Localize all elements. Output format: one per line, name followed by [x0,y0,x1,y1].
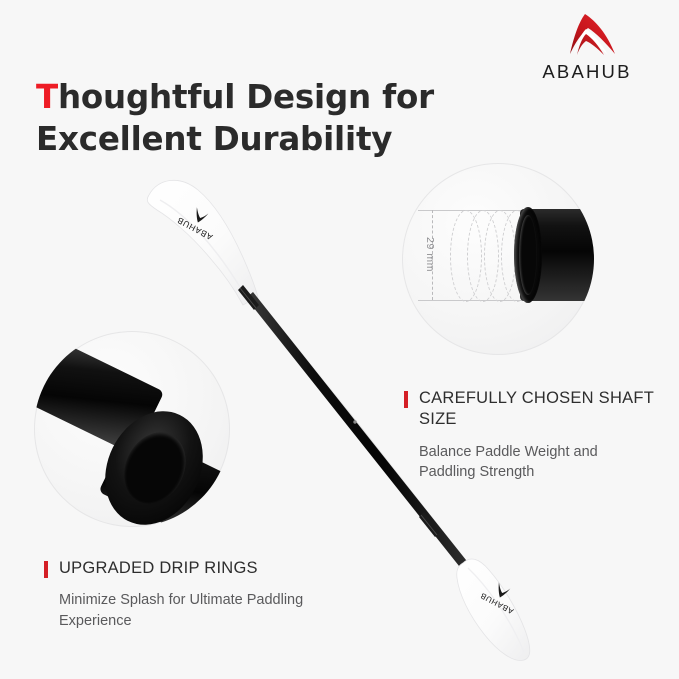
callout-upgraded-drip-rings: UPGRADED DRIP RINGS Minimize Splash for … [44,558,334,632]
callout-heading-row: CAREFULLY CHOSEN SHAFT SIZE [404,388,656,431]
blade-logo-top: ABAHUB [175,202,221,242]
callout-subtitle: Minimize Splash for Ultimate Paddling Ex… [59,590,334,631]
callout-carefully-chosen-shaft-size: CAREFULLY CHOSEN SHAFT SIZE Balance Padd… [404,388,656,483]
paddle-blade-top: ABAHUB [147,180,258,305]
callout-title: CAREFULLY CHOSEN SHAFT SIZE [419,388,656,431]
page-title: Thoughtful Design forExcellent Durabilit… [36,76,506,161]
shaft-diameter-inset: 29 mm [402,163,594,355]
svg-text:ABAHUB: ABAHUB [479,591,515,616]
brand-logo: ABAHUB [517,12,657,82]
dimension-label: 29 mm [424,237,436,272]
product-feature-image: ABAHUB Thoughtful Design forExcellent Du… [0,0,679,679]
blade-logo-bottom: ABAHUB [479,577,522,615]
brand-name: ABAHUB [517,63,657,82]
drip-ring-inset [34,331,230,527]
callout-heading-row: UPGRADED DRIP RINGS [44,558,334,579]
accent-bar-icon [404,391,408,408]
headline-line2: Excellent Durability [36,120,392,158]
abahub-swoosh-icon [555,12,619,60]
callout-subtitle: Balance Paddle Weight and Paddling Stren… [419,442,656,483]
paddle-blade-bottom: ABAHUB [457,559,530,661]
headline-line1: houghtful Design for [58,78,434,116]
svg-text:ABAHUB: ABAHUB [175,215,214,242]
accent-bar-icon [44,561,48,578]
shaft-tube-bore [519,215,537,295]
headline-accent-letter: T [36,78,58,116]
callout-title: UPGRADED DRIP RINGS [59,558,258,579]
